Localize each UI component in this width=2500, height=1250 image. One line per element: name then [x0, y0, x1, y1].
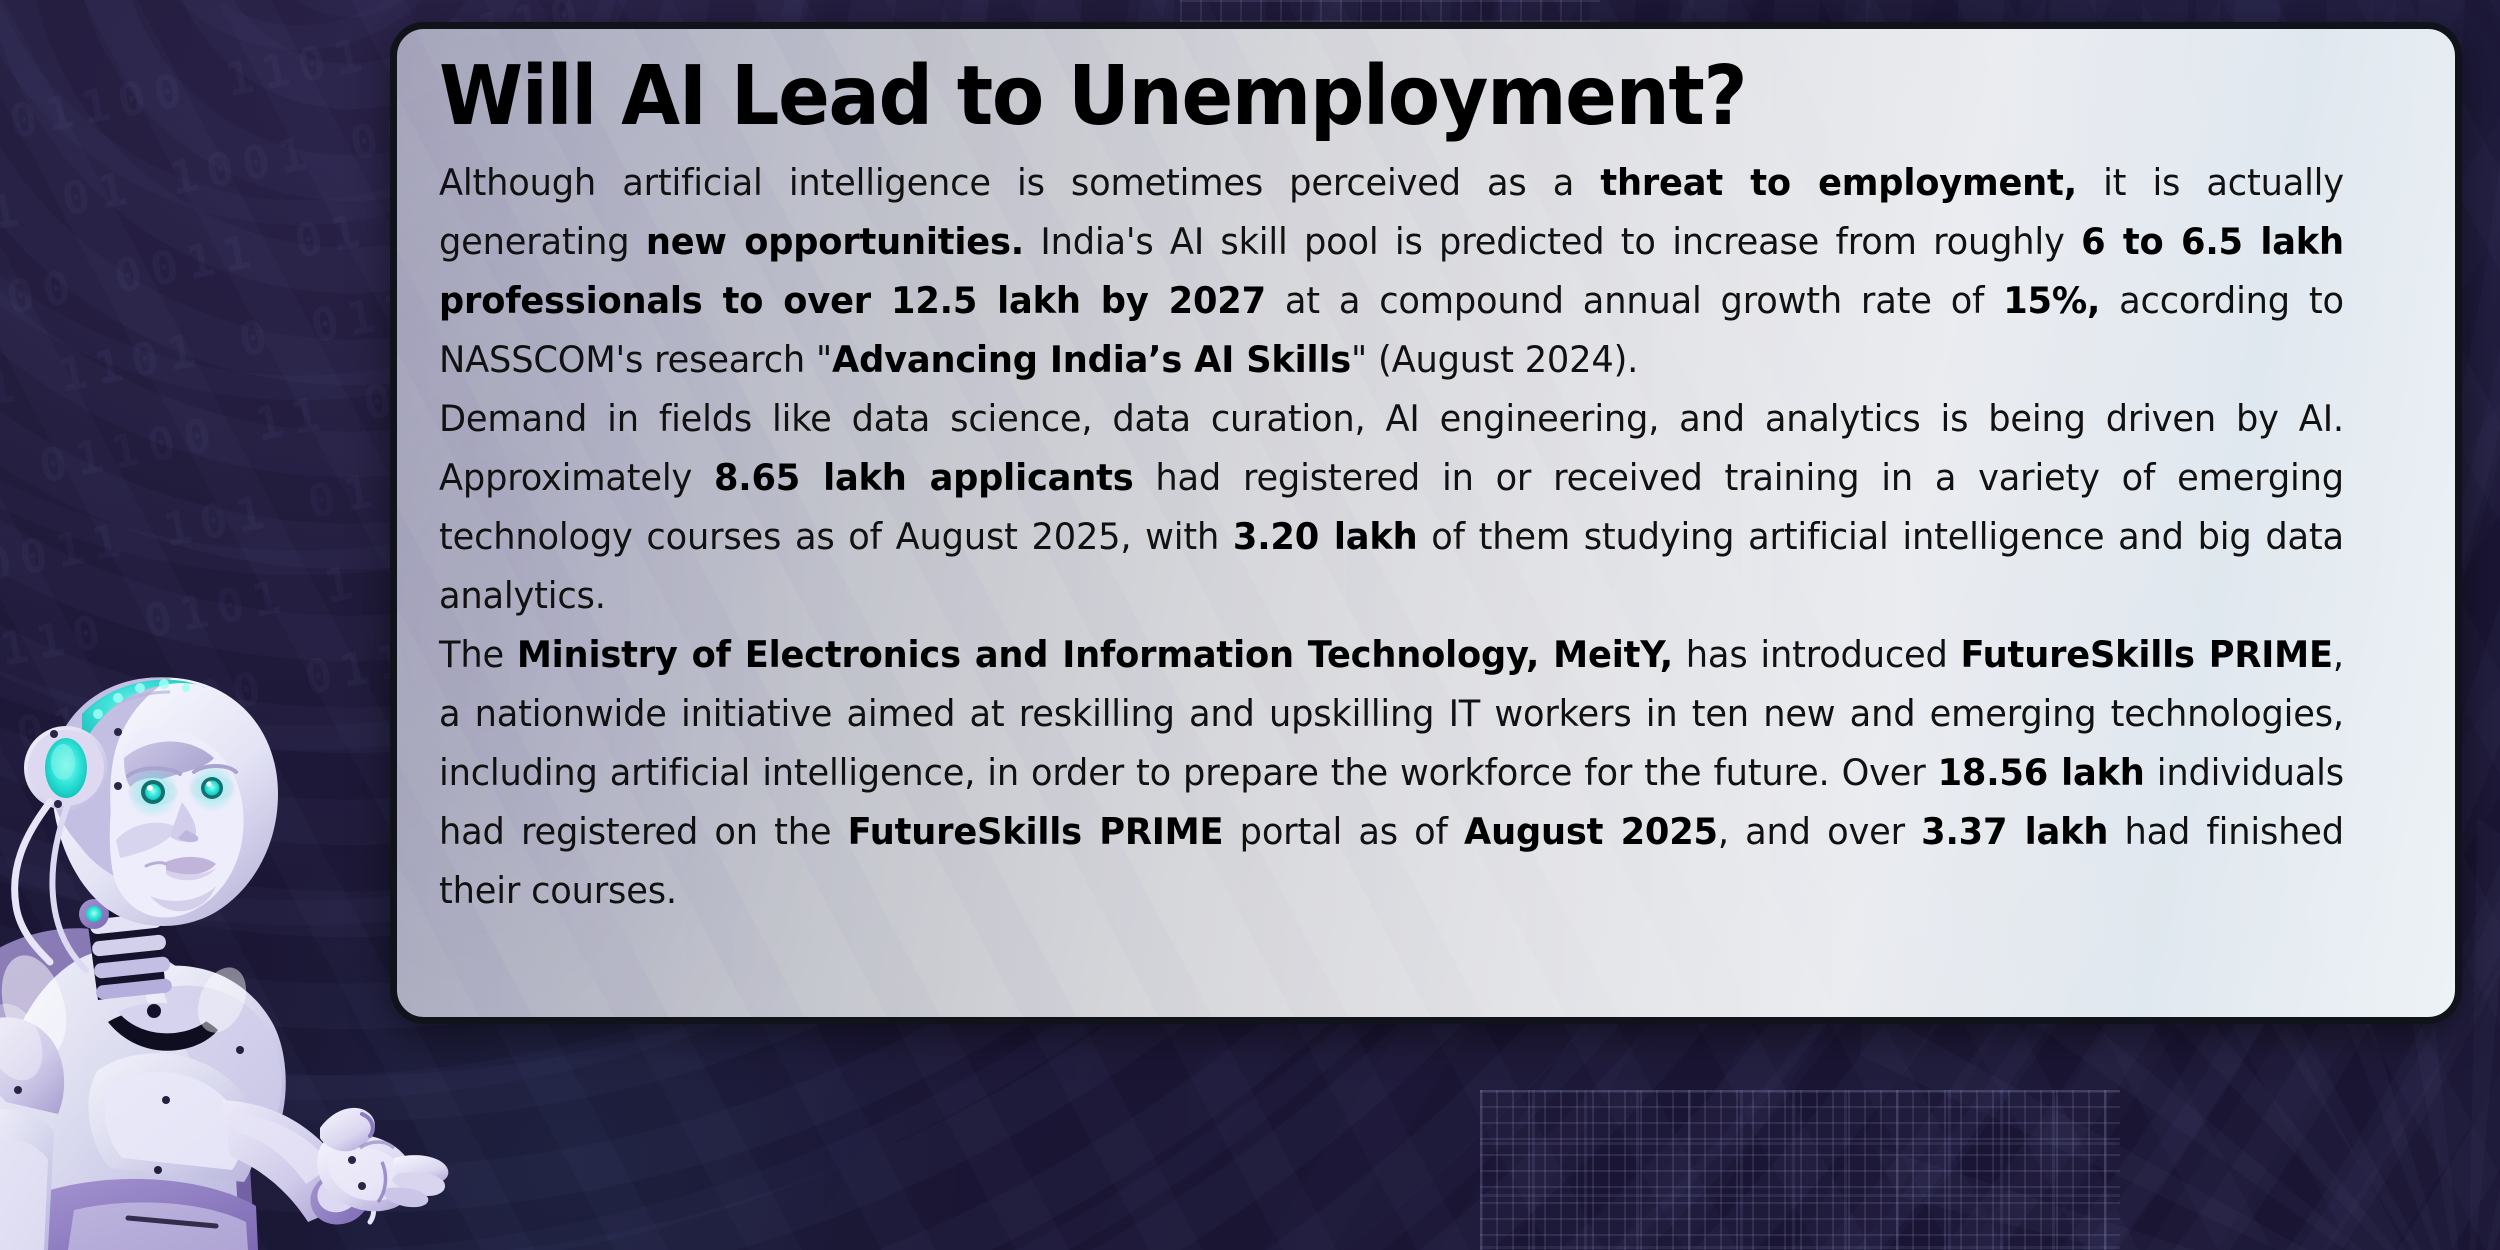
card-content: Will AI Lead to Unemployment? Although a… — [439, 55, 2413, 920]
robot-arm-left — [0, 995, 64, 1250]
body-paragraph-1: Although artificial intelligence is some… — [439, 153, 2344, 389]
page-title: Will AI Lead to Unemployment? — [439, 55, 2275, 139]
poster-canvas: 10 01100 1101 00110 011 01 1001 0011 101… — [0, 0, 2500, 1250]
body-paragraph-2: Demand in fields like data science, data… — [439, 389, 2344, 625]
body-paragraph-3: The Ministry of Electronics and Informat… — [439, 625, 2344, 920]
content-card: Will AI Lead to Unemployment? Although a… — [390, 22, 2462, 1024]
